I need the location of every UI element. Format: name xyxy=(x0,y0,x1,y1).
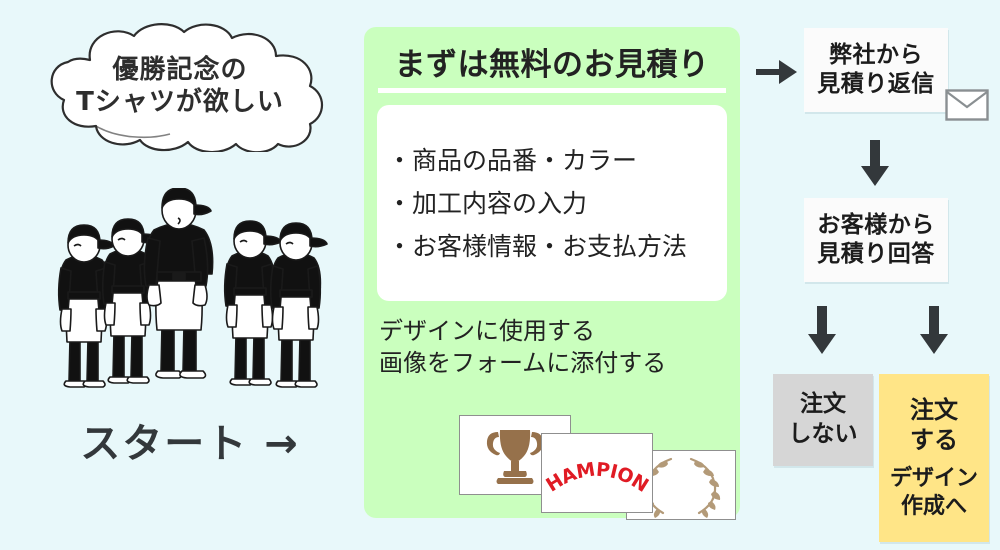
thought-bubble: 優勝記念の Tシャツが欲しい xyxy=(20,22,340,152)
attach-note: デザインに使用する 画像をフォームに添付する xyxy=(379,315,729,380)
start-label: スタート → xyxy=(60,408,320,472)
arrow-right-icon xyxy=(756,58,798,86)
arrow-down-icon-decline xyxy=(807,306,837,354)
champions-text-icon: CHAMPIONS xyxy=(542,434,652,512)
reply-line-2: 見積り返信 xyxy=(817,70,935,99)
svg-text:CHAMPIONS: CHAMPIONS xyxy=(542,434,652,497)
left-column: 優勝記念の Tシャツが欲しい xyxy=(0,0,360,550)
attach-note-line-2: 画像をフォームに添付する xyxy=(379,347,729,379)
checklist-item: ・商品の品番・カラー xyxy=(387,139,719,182)
reply-quote-box: 弊社から 見積り返信 xyxy=(804,28,948,112)
reply-line-1: 弊社から xyxy=(829,41,923,70)
thought-bubble-shape xyxy=(20,22,340,152)
title-divider xyxy=(378,88,726,93)
flow-column: 弊社から 見積り返信 お客様から 見積り回答 xyxy=(750,0,1000,550)
decline-order-box[interactable]: 注文 しない xyxy=(773,374,873,466)
arrow-down-icon-order xyxy=(919,306,949,354)
baseball-team-illustration xyxy=(48,188,328,388)
customer-answer-box: お客様から 見積り回答 xyxy=(804,198,948,282)
place-order-box[interactable]: 注文 する デザイン 作成へ xyxy=(879,374,989,542)
checklist-card: ・商品の品番・カラー ・加工内容の入力 ・お客様情報・お支払方法 xyxy=(377,105,727,301)
design-image-thumbnails: CHAMPIONS xyxy=(364,405,740,515)
champions-label: CHAMPIONS xyxy=(542,434,652,497)
order-sub-2: 作成へ xyxy=(901,493,967,520)
arrow-down-glyph xyxy=(807,306,837,354)
decline-line-2: しない xyxy=(789,420,858,450)
answer-line-1: お客様から xyxy=(817,211,935,240)
free-quote-panel: まずは無料のお見積り ・商品の品番・カラー ・加工内容の入力 ・お客様情報・お支… xyxy=(364,27,740,518)
order-sub-1: デザイン xyxy=(890,465,978,492)
arrow-down-glyph xyxy=(860,140,890,186)
flow-diagram: 優勝記念の Tシャツが欲しい xyxy=(0,0,1000,550)
checklist-item: ・加工内容の入力 xyxy=(387,182,719,225)
panel-title: まずは無料のお見積り xyxy=(364,39,740,84)
envelope-icon xyxy=(945,89,989,121)
arrow-down-glyph xyxy=(919,306,949,354)
order-line-1: 注文 xyxy=(910,396,958,426)
champions-thumbnail: CHAMPIONS xyxy=(541,433,653,513)
order-line-2: する xyxy=(910,426,958,456)
answer-line-2: 見積り回答 xyxy=(817,240,935,269)
checklist-item: ・お客様情報・お支払方法 xyxy=(387,225,719,268)
decline-line-1: 注文 xyxy=(800,390,846,420)
arrow-right-glyph xyxy=(756,58,798,86)
baseball-players-svg xyxy=(48,188,328,388)
attach-note-line-1: デザインに使用する xyxy=(379,315,729,347)
envelope-glyph xyxy=(945,89,989,121)
arrow-down-icon xyxy=(860,140,890,186)
